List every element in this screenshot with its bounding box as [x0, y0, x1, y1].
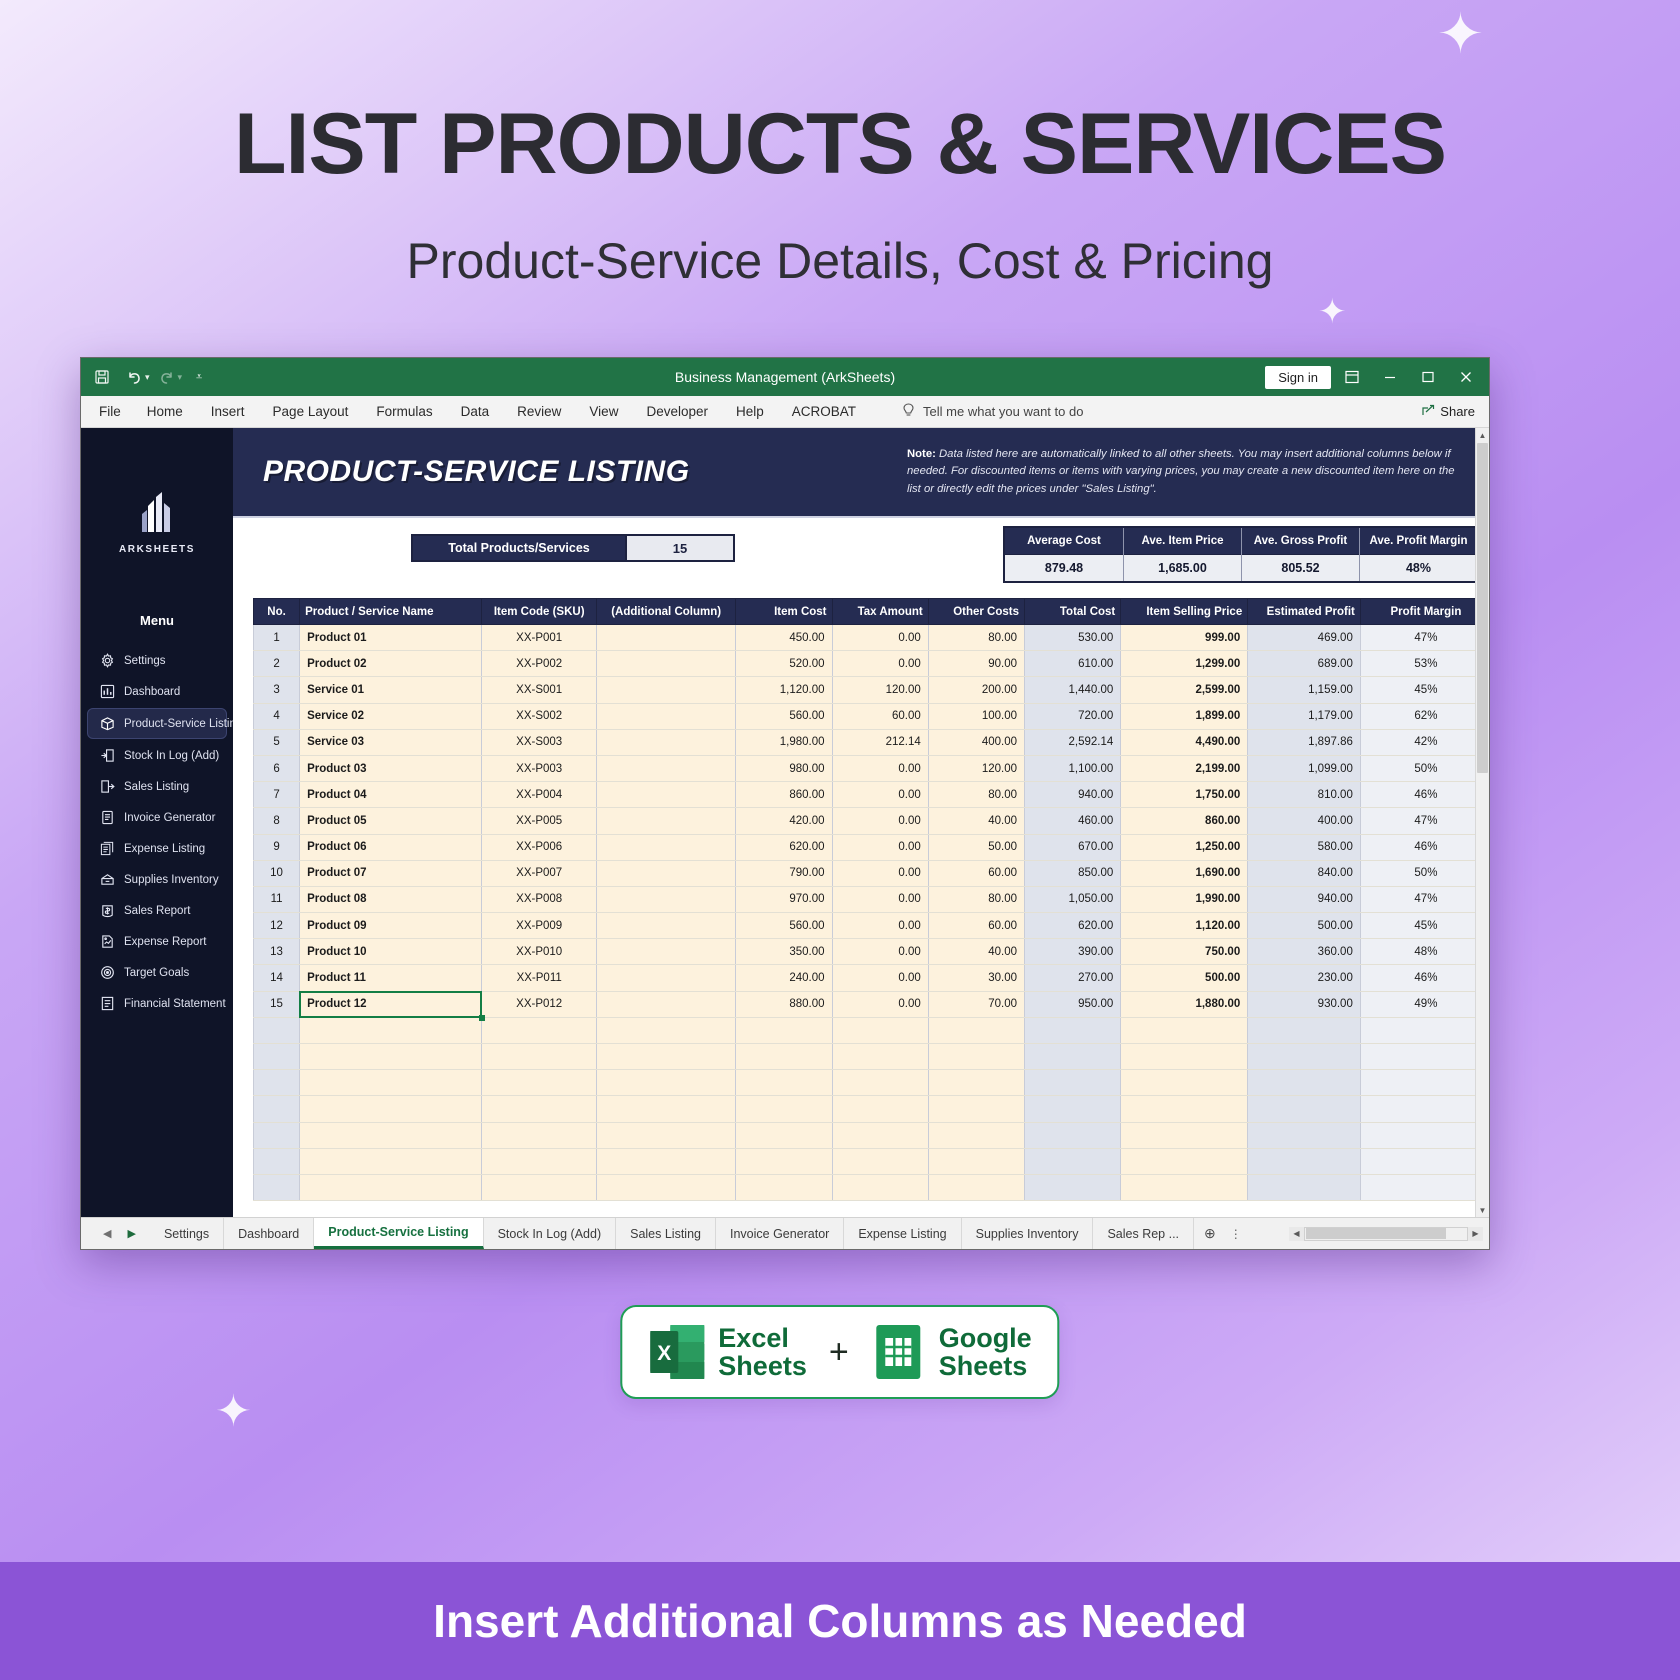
- empty-cell[interactable]: [597, 1148, 736, 1174]
- empty-cell[interactable]: [254, 1148, 300, 1174]
- empty-cell[interactable]: [1360, 1044, 1475, 1070]
- cell-sku[interactable]: XX-P001: [482, 625, 597, 651]
- sidebar-item-sales-report[interactable]: Sales Report: [87, 896, 227, 925]
- empty-cell[interactable]: [482, 1017, 597, 1043]
- empty-row[interactable]: [254, 1070, 1476, 1096]
- cell-profit[interactable]: 1,179.00: [1248, 703, 1361, 729]
- vertical-scroll-thumb[interactable]: [1477, 443, 1488, 773]
- table-row[interactable]: 9Product 06XX-P006620.000.0050.00670.001…: [254, 834, 1476, 860]
- cell-tax[interactable]: 0.00: [832, 755, 928, 781]
- empty-cell[interactable]: [1360, 1174, 1475, 1200]
- cell-cost[interactable]: 520.00: [736, 651, 832, 677]
- ribbon-tab-insert[interactable]: Insert: [197, 396, 259, 427]
- cell-tax[interactable]: 0.00: [832, 834, 928, 860]
- empty-row[interactable]: [254, 1044, 1476, 1070]
- hscroll-right-icon[interactable]: ▶: [1468, 1227, 1483, 1241]
- cell-profit[interactable]: 230.00: [1248, 965, 1361, 991]
- empty-cell[interactable]: [1025, 1122, 1121, 1148]
- cell-sku[interactable]: XX-P002: [482, 651, 597, 677]
- sheet-tab-invoice-generator[interactable]: Invoice Generator: [716, 1218, 844, 1249]
- cell-sku[interactable]: XX-P007: [482, 860, 597, 886]
- empty-cell[interactable]: [597, 1096, 736, 1122]
- cell-extra[interactable]: [597, 913, 736, 939]
- empty-cell[interactable]: [1248, 1017, 1361, 1043]
- cell-extra[interactable]: [597, 782, 736, 808]
- empty-cell[interactable]: [300, 1096, 482, 1122]
- empty-cell[interactable]: [254, 1096, 300, 1122]
- cell-cost[interactable]: 420.00: [736, 808, 832, 834]
- sheet-tab-stock-in-log[interactable]: Stock In Log (Add): [484, 1218, 617, 1249]
- cell-extra[interactable]: [597, 625, 736, 651]
- cell-price[interactable]: 750.00: [1121, 939, 1248, 965]
- empty-cell[interactable]: [597, 1122, 736, 1148]
- sidebar-item-dashboard[interactable]: Dashboard: [87, 677, 227, 706]
- cell-price[interactable]: 1,299.00: [1121, 651, 1248, 677]
- cell-total[interactable]: 950.00: [1025, 991, 1121, 1017]
- cell-extra[interactable]: [597, 965, 736, 991]
- empty-cell[interactable]: [482, 1044, 597, 1070]
- empty-cell[interactable]: [1248, 1122, 1361, 1148]
- empty-cell[interactable]: [1248, 1148, 1361, 1174]
- cell-cost[interactable]: 970.00: [736, 886, 832, 912]
- hscroll-left-icon[interactable]: ◀: [1289, 1227, 1304, 1241]
- cell-total[interactable]: 850.00: [1025, 860, 1121, 886]
- cell-name[interactable]: Product 01: [300, 625, 482, 651]
- empty-cell[interactable]: [736, 1122, 832, 1148]
- cell-margin[interactable]: 45%: [1360, 913, 1475, 939]
- cell-name[interactable]: Product 11: [300, 965, 482, 991]
- cell-extra[interactable]: [597, 939, 736, 965]
- empty-cell[interactable]: [1248, 1044, 1361, 1070]
- empty-cell[interactable]: [1025, 1044, 1121, 1070]
- cell-margin[interactable]: 46%: [1360, 782, 1475, 808]
- cell-other[interactable]: 200.00: [928, 677, 1024, 703]
- cell-name[interactable]: Product 04: [300, 782, 482, 808]
- cell-extra[interactable]: [597, 677, 736, 703]
- cell-cost[interactable]: 450.00: [736, 625, 832, 651]
- cell-no[interactable]: 13: [254, 939, 300, 965]
- empty-row[interactable]: [254, 1017, 1476, 1043]
- cell-tax[interactable]: 0.00: [832, 651, 928, 677]
- cell-tax[interactable]: 60.00: [832, 703, 928, 729]
- sheet-tab-sales-report[interactable]: Sales Rep ...: [1093, 1218, 1194, 1249]
- hscroll-track[interactable]: [1304, 1227, 1468, 1241]
- empty-cell[interactable]: [832, 1122, 928, 1148]
- sidebar-item-expense-listing[interactable]: Expense Listing: [87, 834, 227, 863]
- sheet-tab-supplies-inventory[interactable]: Supplies Inventory: [962, 1218, 1094, 1249]
- cell-price[interactable]: 2,199.00: [1121, 755, 1248, 781]
- empty-cell[interactable]: [597, 1044, 736, 1070]
- sheet-nav-next-icon[interactable]: ▶: [127, 1227, 135, 1240]
- cell-other[interactable]: 70.00: [928, 991, 1024, 1017]
- sidebar-item-invoice-generator[interactable]: Invoice Generator: [87, 803, 227, 832]
- cell-cost[interactable]: 560.00: [736, 913, 832, 939]
- undo-dropdown-caret[interactable]: ▾: [145, 372, 150, 383]
- cell-other[interactable]: 400.00: [928, 729, 1024, 755]
- table-row[interactable]: 3Service 01XX-S0011,120.00120.00200.001,…: [254, 677, 1476, 703]
- empty-cell[interactable]: [300, 1122, 482, 1148]
- empty-cell[interactable]: [928, 1044, 1024, 1070]
- horizontal-scroll-thumb[interactable]: [1306, 1228, 1446, 1239]
- empty-cell[interactable]: [300, 1044, 482, 1070]
- empty-cell[interactable]: [928, 1122, 1024, 1148]
- table-row[interactable]: 8Product 05XX-P005420.000.0040.00460.008…: [254, 808, 1476, 834]
- cell-cost[interactable]: 1,120.00: [736, 677, 832, 703]
- empty-cell[interactable]: [928, 1070, 1024, 1096]
- empty-row[interactable]: [254, 1148, 1476, 1174]
- cell-total[interactable]: 1,440.00: [1025, 677, 1121, 703]
- empty-cell[interactable]: [1121, 1070, 1248, 1096]
- redo-dropdown-caret[interactable]: ▾: [178, 372, 183, 383]
- horizontal-scrollbar[interactable]: ◀ ▶: [1289, 1218, 1489, 1249]
- sheet-tab-expense-listing[interactable]: Expense Listing: [844, 1218, 961, 1249]
- ribbon-tab-file[interactable]: File: [87, 396, 133, 427]
- empty-cell[interactable]: [254, 1070, 300, 1096]
- sidebar-item-settings[interactable]: Settings: [87, 646, 227, 675]
- ribbon-tab-help[interactable]: Help: [722, 396, 778, 427]
- cell-margin[interactable]: 46%: [1360, 965, 1475, 991]
- cell-tax[interactable]: 0.00: [832, 860, 928, 886]
- cell-price[interactable]: 500.00: [1121, 965, 1248, 991]
- cell-no[interactable]: 1: [254, 625, 300, 651]
- cell-no[interactable]: 5: [254, 729, 300, 755]
- col-cost[interactable]: Item Cost: [736, 599, 832, 625]
- cell-name[interactable]: Product 10: [300, 939, 482, 965]
- cell-no[interactable]: 9: [254, 834, 300, 860]
- cell-other[interactable]: 60.00: [928, 913, 1024, 939]
- table-row[interactable]: 14Product 11XX-P011240.000.0030.00270.00…: [254, 965, 1476, 991]
- cell-other[interactable]: 40.00: [928, 808, 1024, 834]
- col-no[interactable]: No.: [254, 599, 300, 625]
- sheet-tab-settings[interactable]: Settings: [150, 1218, 224, 1249]
- cell-name[interactable]: Product 03: [300, 755, 482, 781]
- cell-tax[interactable]: 0.00: [832, 808, 928, 834]
- cell-sku[interactable]: XX-P012: [482, 991, 597, 1017]
- cell-cost[interactable]: 620.00: [736, 834, 832, 860]
- sheet-nav-prev-icon[interactable]: ◀: [103, 1227, 111, 1240]
- cell-sku[interactable]: XX-S002: [482, 703, 597, 729]
- cell-sku[interactable]: XX-P009: [482, 913, 597, 939]
- empty-cell[interactable]: [482, 1148, 597, 1174]
- cell-total[interactable]: 460.00: [1025, 808, 1121, 834]
- save-icon[interactable]: [87, 363, 117, 391]
- cell-profit[interactable]: 840.00: [1248, 860, 1361, 886]
- sidebar-item-financial-statement[interactable]: Financial Statement: [87, 989, 227, 1018]
- empty-cell[interactable]: [254, 1017, 300, 1043]
- cell-no[interactable]: 12: [254, 913, 300, 939]
- table-row[interactable]: 6Product 03XX-P003980.000.00120.001,100.…: [254, 755, 1476, 781]
- cell-tax[interactable]: 0.00: [832, 886, 928, 912]
- empty-cell[interactable]: [597, 1070, 736, 1096]
- cell-profit[interactable]: 400.00: [1248, 808, 1361, 834]
- col-price[interactable]: Item Selling Price: [1121, 599, 1248, 625]
- cell-tax[interactable]: 120.00: [832, 677, 928, 703]
- cell-name[interactable]: Service 03: [300, 729, 482, 755]
- cell-profit[interactable]: 810.00: [1248, 782, 1361, 808]
- cell-margin[interactable]: 47%: [1360, 808, 1475, 834]
- share-button[interactable]: Share: [1422, 404, 1483, 420]
- ribbon-tab-view[interactable]: View: [575, 396, 632, 427]
- table-row[interactable]: 11Product 08XX-P008970.000.0080.001,050.…: [254, 886, 1476, 912]
- empty-cell[interactable]: [254, 1122, 300, 1148]
- cell-extra[interactable]: [597, 834, 736, 860]
- cell-no[interactable]: 6: [254, 755, 300, 781]
- table-row[interactable]: 7Product 04XX-P004860.000.0080.00940.001…: [254, 782, 1476, 808]
- minimize-icon[interactable]: [1373, 363, 1407, 391]
- cell-cost[interactable]: 790.00: [736, 860, 832, 886]
- empty-cell[interactable]: [1025, 1017, 1121, 1043]
- cell-sku[interactable]: XX-S001: [482, 677, 597, 703]
- cell-tax[interactable]: 0.00: [832, 913, 928, 939]
- cell-sku[interactable]: XX-S003: [482, 729, 597, 755]
- cell-profit[interactable]: 580.00: [1248, 834, 1361, 860]
- empty-cell[interactable]: [1121, 1096, 1248, 1122]
- sidebar-item-target-goals[interactable]: Target Goals: [87, 958, 227, 987]
- empty-cell[interactable]: [1121, 1017, 1248, 1043]
- cell-profit[interactable]: 500.00: [1248, 913, 1361, 939]
- scroll-up-icon[interactable]: ▲: [1476, 428, 1490, 442]
- empty-cell[interactable]: [832, 1017, 928, 1043]
- col-extra[interactable]: (Additional Column): [597, 599, 736, 625]
- empty-cell[interactable]: [736, 1017, 832, 1043]
- cell-sku[interactable]: XX-P006: [482, 834, 597, 860]
- empty-cell[interactable]: [254, 1044, 300, 1070]
- empty-cell[interactable]: [1025, 1174, 1121, 1200]
- empty-cell[interactable]: [300, 1148, 482, 1174]
- empty-cell[interactable]: [1121, 1148, 1248, 1174]
- empty-cell[interactable]: [1360, 1096, 1475, 1122]
- cell-margin[interactable]: 47%: [1360, 625, 1475, 651]
- ribbon-tab-formulas[interactable]: Formulas: [362, 396, 446, 427]
- cell-sku[interactable]: XX-P005: [482, 808, 597, 834]
- vertical-scrollbar[interactable]: ▲ ▼: [1475, 428, 1489, 1217]
- cell-margin[interactable]: 53%: [1360, 651, 1475, 677]
- ribbon-tab-acrobat[interactable]: ACROBAT: [778, 396, 870, 427]
- cell-cost[interactable]: 350.00: [736, 939, 832, 965]
- cell-total[interactable]: 670.00: [1025, 834, 1121, 860]
- empty-cell[interactable]: [1025, 1148, 1121, 1174]
- col-profit[interactable]: Estimated Profit: [1248, 599, 1361, 625]
- table-row[interactable]: 10Product 07XX-P007790.000.0060.00850.00…: [254, 860, 1476, 886]
- cell-tax[interactable]: 0.00: [832, 782, 928, 808]
- cell-profit[interactable]: 940.00: [1248, 886, 1361, 912]
- empty-cell[interactable]: [1121, 1122, 1248, 1148]
- cell-name[interactable]: Service 01: [300, 677, 482, 703]
- cell-margin[interactable]: 46%: [1360, 834, 1475, 860]
- empty-cell[interactable]: [482, 1070, 597, 1096]
- cell-total[interactable]: 270.00: [1025, 965, 1121, 991]
- empty-cell[interactable]: [300, 1070, 482, 1096]
- cell-total[interactable]: 940.00: [1025, 782, 1121, 808]
- table-row[interactable]: 15Product 12XX-P012880.000.0070.00950.00…: [254, 991, 1476, 1017]
- empty-cell[interactable]: [482, 1174, 597, 1200]
- cell-tax[interactable]: 0.00: [832, 991, 928, 1017]
- cell-extra[interactable]: [597, 755, 736, 781]
- cell-sku[interactable]: XX-P008: [482, 886, 597, 912]
- empty-cell[interactable]: [928, 1174, 1024, 1200]
- sheet-overflow-icon[interactable]: ⋮: [1226, 1218, 1247, 1249]
- empty-cell[interactable]: [832, 1148, 928, 1174]
- cell-margin[interactable]: 47%: [1360, 886, 1475, 912]
- cell-name[interactable]: Product 05: [300, 808, 482, 834]
- sheet-tab-dashboard[interactable]: Dashboard: [224, 1218, 314, 1249]
- cell-no[interactable]: 11: [254, 886, 300, 912]
- empty-cell[interactable]: [832, 1070, 928, 1096]
- cell-cost[interactable]: 880.00: [736, 991, 832, 1017]
- total-products-value[interactable]: 15: [625, 536, 733, 560]
- cell-other[interactable]: 100.00: [928, 703, 1024, 729]
- cell-margin[interactable]: 48%: [1360, 939, 1475, 965]
- table-row[interactable]: 2Product 02XX-P002520.000.0090.00610.001…: [254, 651, 1476, 677]
- ribbon-tab-developer[interactable]: Developer: [632, 396, 722, 427]
- cell-price[interactable]: 2,599.00: [1121, 677, 1248, 703]
- cell-profit[interactable]: 1,897.86: [1248, 729, 1361, 755]
- close-icon[interactable]: [1449, 363, 1483, 391]
- cell-no[interactable]: 8: [254, 808, 300, 834]
- cell-no[interactable]: 15: [254, 991, 300, 1017]
- cell-total[interactable]: 1,100.00: [1025, 755, 1121, 781]
- cell-name[interactable]: Product 09: [300, 913, 482, 939]
- cell-profit[interactable]: 469.00: [1248, 625, 1361, 651]
- empty-cell[interactable]: [1121, 1174, 1248, 1200]
- col-margin[interactable]: Profit Margin: [1360, 599, 1475, 625]
- table-row[interactable]: 13Product 10XX-P010350.000.0040.00390.00…: [254, 939, 1476, 965]
- cell-no[interactable]: 10: [254, 860, 300, 886]
- empty-cell[interactable]: [1025, 1096, 1121, 1122]
- cell-price[interactable]: 1,120.00: [1121, 913, 1248, 939]
- cell-price[interactable]: 1,690.00: [1121, 860, 1248, 886]
- cell-extra[interactable]: [597, 860, 736, 886]
- tell-me-search[interactable]: Tell me what you want to do: [902, 403, 1083, 421]
- empty-cell[interactable]: [1025, 1070, 1121, 1096]
- cell-tax[interactable]: 212.14: [832, 729, 928, 755]
- empty-cell[interactable]: [736, 1070, 832, 1096]
- empty-cell[interactable]: [482, 1096, 597, 1122]
- cell-name[interactable]: Product 02: [300, 651, 482, 677]
- cell-sku[interactable]: XX-P003: [482, 755, 597, 781]
- cell-other[interactable]: 80.00: [928, 625, 1024, 651]
- cell-sku[interactable]: XX-P011: [482, 965, 597, 991]
- ribbon-tab-review[interactable]: Review: [503, 396, 575, 427]
- selected-cell[interactable]: Product 12: [300, 991, 482, 1017]
- empty-cell[interactable]: [736, 1148, 832, 1174]
- empty-cell[interactable]: [736, 1044, 832, 1070]
- cell-total[interactable]: 610.00: [1025, 651, 1121, 677]
- empty-cell[interactable]: [1360, 1070, 1475, 1096]
- scroll-down-icon[interactable]: ▼: [1476, 1203, 1490, 1217]
- cell-margin[interactable]: 62%: [1360, 703, 1475, 729]
- sidebar-item-product-service-listing[interactable]: Product-Service Listing: [87, 708, 227, 739]
- sheet-tab-sales-listing[interactable]: Sales Listing: [616, 1218, 716, 1249]
- customize-quick-access-icon[interactable]: ⩡: [184, 363, 214, 391]
- cell-cost[interactable]: 860.00: [736, 782, 832, 808]
- cell-profit[interactable]: 1,099.00: [1248, 755, 1361, 781]
- empty-cell[interactable]: [597, 1017, 736, 1043]
- col-other[interactable]: Other Costs: [928, 599, 1024, 625]
- cell-profit[interactable]: 689.00: [1248, 651, 1361, 677]
- cell-total[interactable]: 620.00: [1025, 913, 1121, 939]
- cell-no[interactable]: 7: [254, 782, 300, 808]
- cell-extra[interactable]: [597, 729, 736, 755]
- sidebar-item-expense-report[interactable]: Expense Report: [87, 927, 227, 956]
- empty-cell[interactable]: [832, 1044, 928, 1070]
- empty-row[interactable]: [254, 1096, 1476, 1122]
- cell-cost[interactable]: 1,980.00: [736, 729, 832, 755]
- empty-cell[interactable]: [928, 1017, 1024, 1043]
- cell-tax[interactable]: 0.00: [832, 939, 928, 965]
- cell-cost[interactable]: 240.00: [736, 965, 832, 991]
- cell-price[interactable]: 1,990.00: [1121, 886, 1248, 912]
- empty-cell[interactable]: [928, 1148, 1024, 1174]
- empty-cell[interactable]: [928, 1096, 1024, 1122]
- add-sheet-icon[interactable]: ⊕: [1194, 1218, 1226, 1249]
- cell-other[interactable]: 40.00: [928, 939, 1024, 965]
- cell-extra[interactable]: [597, 991, 736, 1017]
- cell-price[interactable]: 1,880.00: [1121, 991, 1248, 1017]
- empty-cell[interactable]: [1360, 1148, 1475, 1174]
- cell-price[interactable]: 860.00: [1121, 808, 1248, 834]
- cell-sku[interactable]: XX-P010: [482, 939, 597, 965]
- cell-extra[interactable]: [597, 651, 736, 677]
- empty-cell[interactable]: [482, 1122, 597, 1148]
- cell-profit[interactable]: 1,159.00: [1248, 677, 1361, 703]
- cell-margin[interactable]: 42%: [1360, 729, 1475, 755]
- cell-price[interactable]: 1,250.00: [1121, 834, 1248, 860]
- table-row[interactable]: 4Service 02XX-S002560.0060.00100.00720.0…: [254, 703, 1476, 729]
- cell-total[interactable]: 2,592.14: [1025, 729, 1121, 755]
- sidebar-item-stock-in-log[interactable]: Stock In Log (Add): [87, 741, 227, 770]
- empty-cell[interactable]: [736, 1096, 832, 1122]
- col-name[interactable]: Product / Service Name: [300, 599, 482, 625]
- cell-margin[interactable]: 50%: [1360, 860, 1475, 886]
- cell-other[interactable]: 90.00: [928, 651, 1024, 677]
- col-sku[interactable]: Item Code (SKU): [482, 599, 597, 625]
- cell-total[interactable]: 720.00: [1025, 703, 1121, 729]
- cell-other[interactable]: 50.00: [928, 834, 1024, 860]
- cell-other[interactable]: 30.00: [928, 965, 1024, 991]
- ribbon-tab-home[interactable]: Home: [133, 396, 197, 427]
- empty-cell[interactable]: [597, 1174, 736, 1200]
- empty-cell[interactable]: [300, 1017, 482, 1043]
- cell-name[interactable]: Product 06: [300, 834, 482, 860]
- cell-no[interactable]: 4: [254, 703, 300, 729]
- cell-margin[interactable]: 50%: [1360, 755, 1475, 781]
- cell-profit[interactable]: 360.00: [1248, 939, 1361, 965]
- cell-extra[interactable]: [597, 808, 736, 834]
- maximize-icon[interactable]: [1411, 363, 1445, 391]
- sidebar-item-supplies-inventory[interactable]: Supplies Inventory: [87, 865, 227, 894]
- cell-cost[interactable]: 980.00: [736, 755, 832, 781]
- cell-margin[interactable]: 45%: [1360, 677, 1475, 703]
- empty-cell[interactable]: [736, 1174, 832, 1200]
- empty-cell[interactable]: [1248, 1174, 1361, 1200]
- empty-cell[interactable]: [1360, 1122, 1475, 1148]
- cell-other[interactable]: 80.00: [928, 886, 1024, 912]
- cell-tax[interactable]: 0.00: [832, 965, 928, 991]
- empty-cell[interactable]: [832, 1174, 928, 1200]
- cell-price[interactable]: 999.00: [1121, 625, 1248, 651]
- cell-extra[interactable]: [597, 886, 736, 912]
- col-tax[interactable]: Tax Amount: [832, 599, 928, 625]
- cell-sku[interactable]: XX-P004: [482, 782, 597, 808]
- empty-cell[interactable]: [1360, 1017, 1475, 1043]
- table-row[interactable]: 5Service 03XX-S0031,980.00212.14400.002,…: [254, 729, 1476, 755]
- empty-cell[interactable]: [254, 1174, 300, 1200]
- sidebar-item-sales-listing[interactable]: Sales Listing: [87, 772, 227, 801]
- col-total[interactable]: Total Cost: [1025, 599, 1121, 625]
- cell-other[interactable]: 80.00: [928, 782, 1024, 808]
- ribbon-tab-page-layout[interactable]: Page Layout: [259, 396, 363, 427]
